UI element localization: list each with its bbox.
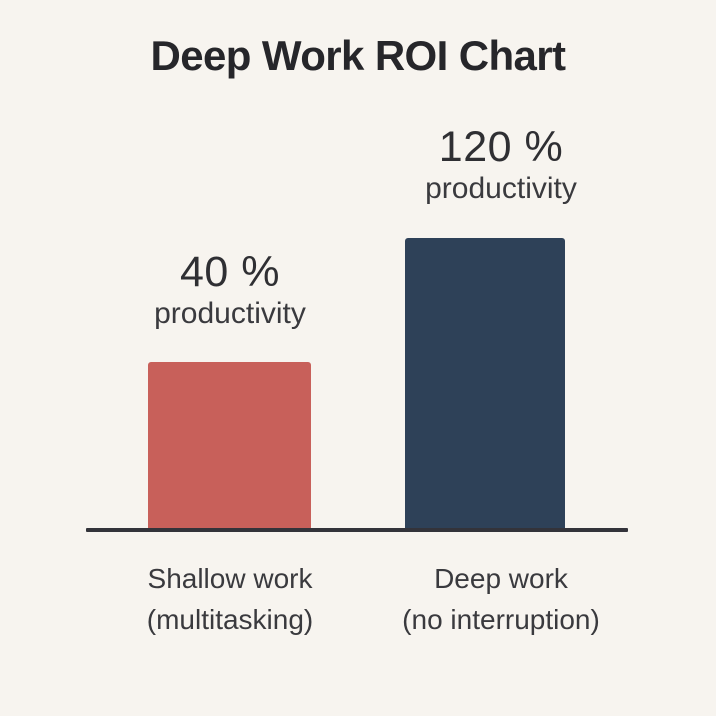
category-line-2-deep-work: (no interruption) [374, 599, 628, 640]
chart-canvas: Deep Work ROI Chart 40 % productivity Sh… [0, 0, 716, 716]
value-number-shallow-work: 40 % [86, 248, 374, 296]
category-label-shallow-work: Shallow work (multitasking) [86, 558, 374, 640]
value-number-deep-work: 120 % [374, 123, 628, 171]
value-label-shallow-work: 40 % productivity [86, 248, 374, 332]
bar-shallow-work[interactable] [148, 362, 311, 530]
bar-deep-work[interactable] [405, 238, 565, 530]
category-line-1-deep-work: Deep work [374, 558, 628, 599]
axis-baseline [86, 528, 628, 532]
category-line-2-shallow-work: (multitasking) [86, 599, 374, 640]
category-line-1-shallow-work: Shallow work [86, 558, 374, 599]
category-label-deep-work: Deep work (no interruption) [374, 558, 628, 640]
bar-group-shallow-work[interactable]: 40 % productivity Shallow work (multitas… [86, 0, 374, 716]
value-unit-shallow-work: productivity [86, 296, 374, 332]
plot-area: 40 % productivity Shallow work (multitas… [0, 0, 716, 716]
bar-group-deep-work[interactable]: 120 % productivity Deep work (no interru… [374, 0, 628, 716]
value-label-deep-work: 120 % productivity [374, 123, 628, 207]
value-unit-deep-work: productivity [374, 171, 628, 207]
